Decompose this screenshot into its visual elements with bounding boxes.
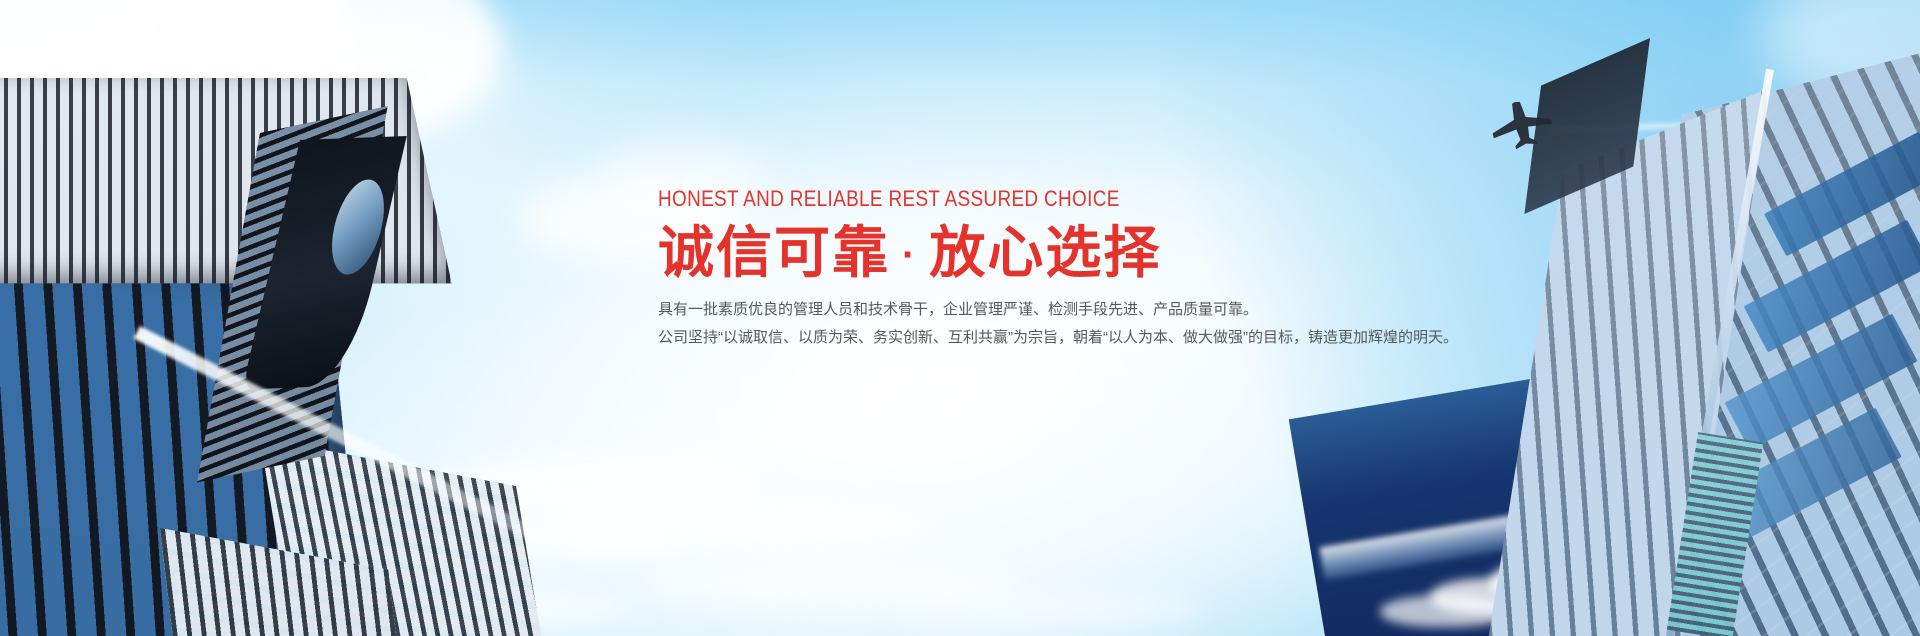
hero-banner: HONEST AND RELIABLE REST ASSURED CHOICE … [0,0,1920,636]
left-building [0,78,480,636]
banner-headline: 诚信可靠·放心选择 [658,223,1478,282]
headline-part-right: 放心选择 [929,221,1161,284]
banner-subtitle-line-1: 具有一批素质优良的管理人员和技术骨干，企业管理严谨、检测手段先进、产品质量可靠。 [658,298,1478,322]
banner-subtitle-line-2: 公司坚持“以诚取信、以质为荣、务实创新、互利共赢”为宗旨，朝着“以人为本、做大做… [658,326,1478,350]
banner-eyebrow: HONEST AND RELIABLE REST ASSURED CHOICE [658,188,1363,210]
right-building [1530,30,1920,636]
banner-copy: HONEST AND RELIABLE REST ASSURED CHOICE … [658,188,1478,350]
headline-separator-dot: · [890,233,929,277]
headline-part-left: 诚信可靠 [658,221,890,284]
cirrus-wisp-6 [900,590,1200,630]
